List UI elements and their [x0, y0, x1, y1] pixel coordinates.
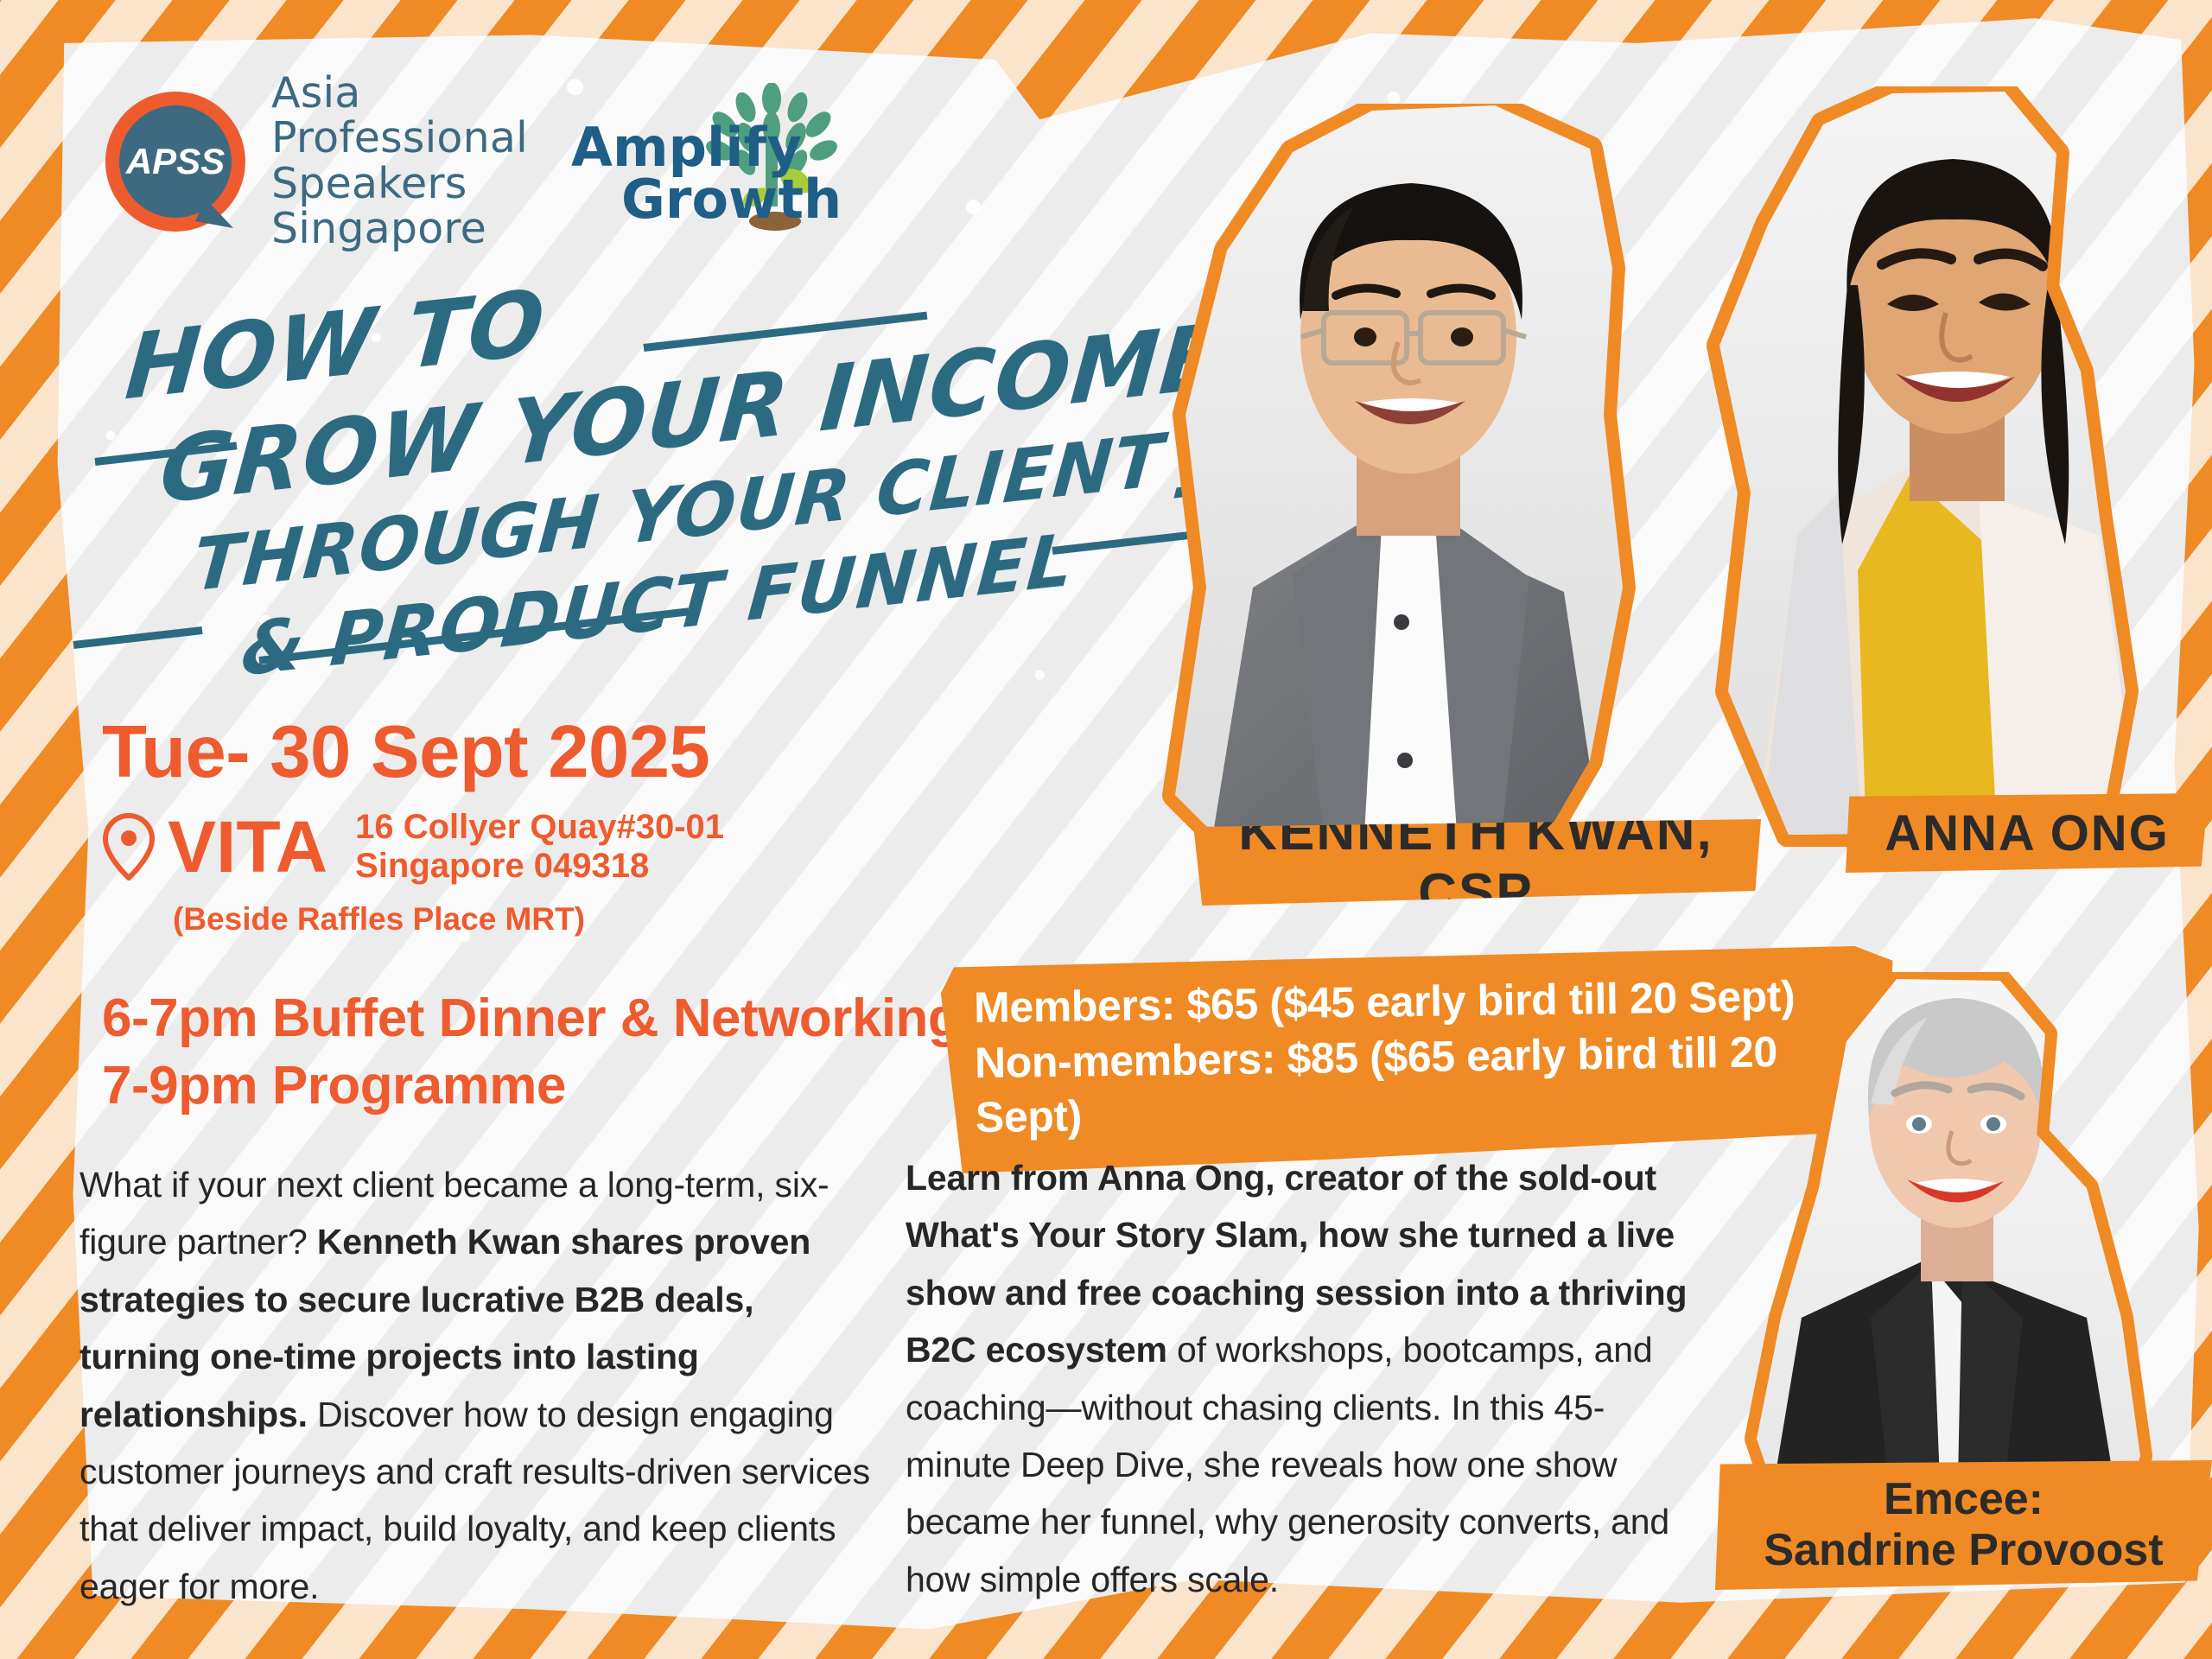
location-pin-icon	[102, 813, 156, 880]
anna-description: Learn from Anna Ong, creator of the sold…	[906, 1149, 1692, 1608]
emcee-name: Sandrine Provoost	[1764, 1525, 2163, 1576]
growth-word: Growth	[621, 168, 842, 231]
venue-row: VITA 16 Collyer Quay#30-01 Singapore 049…	[102, 808, 966, 886]
apss-wordmark: Asia Professional Speakers Singapore	[271, 71, 528, 252]
event-date: Tue- 30 Sept 2025	[102, 715, 966, 789]
emcee-label: Emcee:	[1884, 1474, 2044, 1525]
nameplate-anna-ong: Anna Ong	[1846, 793, 2209, 873]
nameplate-kenneth-kwan: Kenneth Kwan, CSP	[1191, 819, 1761, 906]
amplify-growth-tree-icon: Amplify Growth	[568, 83, 853, 234]
right-text-part2: of workshops, bootcamps, and coaching—wi…	[906, 1330, 1669, 1599]
event-poster: APSS Asia Professional Speakers Singapor…	[0, 0, 2212, 1659]
speaker-photo-anna-ong	[1694, 86, 2212, 847]
apss-logo: APSS Asia Professional Speakers Singapor…	[102, 71, 528, 252]
venue-address-line-1: 16 Collyer Quay#30-01	[355, 808, 724, 847]
apss-word-professional: Professional	[271, 116, 528, 161]
schedule-line-1: 6-7pm Buffet Dinner & Networking	[102, 985, 960, 1052]
apss-word-speakers: Speakers	[271, 162, 528, 207]
venue-note: (Beside Raffles Place MRT)	[173, 901, 966, 938]
venue-name: VITA	[168, 810, 327, 883]
apss-speech-bubble-icon: APSS	[102, 88, 249, 235]
schedule-line-2: 7-9pm Programme	[102, 1052, 960, 1120]
kenneth-description: What if your next client became a long-t…	[79, 1156, 883, 1615]
svg-text:APSS: APSS	[125, 141, 225, 181]
apss-word-asia: Asia	[271, 71, 528, 116]
amplify-growth-logo: Amplify Growth	[568, 83, 853, 230]
speaker-photo-kenneth-kwan	[1123, 104, 1728, 881]
event-schedule: 6-7pm Buffet Dinner & Networking 7-9pm P…	[102, 985, 960, 1120]
venue-address-line-2: Singapore 049318	[355, 847, 724, 886]
emcee-photo-sandrine-provoost	[1715, 972, 2199, 1525]
logo-row: APSS Asia Professional Speakers Singapor…	[102, 71, 853, 252]
venue-address: 16 Collyer Quay#30-01 Singapore 049318	[355, 808, 724, 886]
event-details: Tue- 30 Sept 2025 VITA 16 Collyer Quay#3…	[102, 715, 966, 938]
apss-word-singapore: Singapore	[271, 207, 528, 251]
nameplate-emcee-sandrine-provoost: Emcee: Sandrine Provoost	[1715, 1460, 2212, 1590]
